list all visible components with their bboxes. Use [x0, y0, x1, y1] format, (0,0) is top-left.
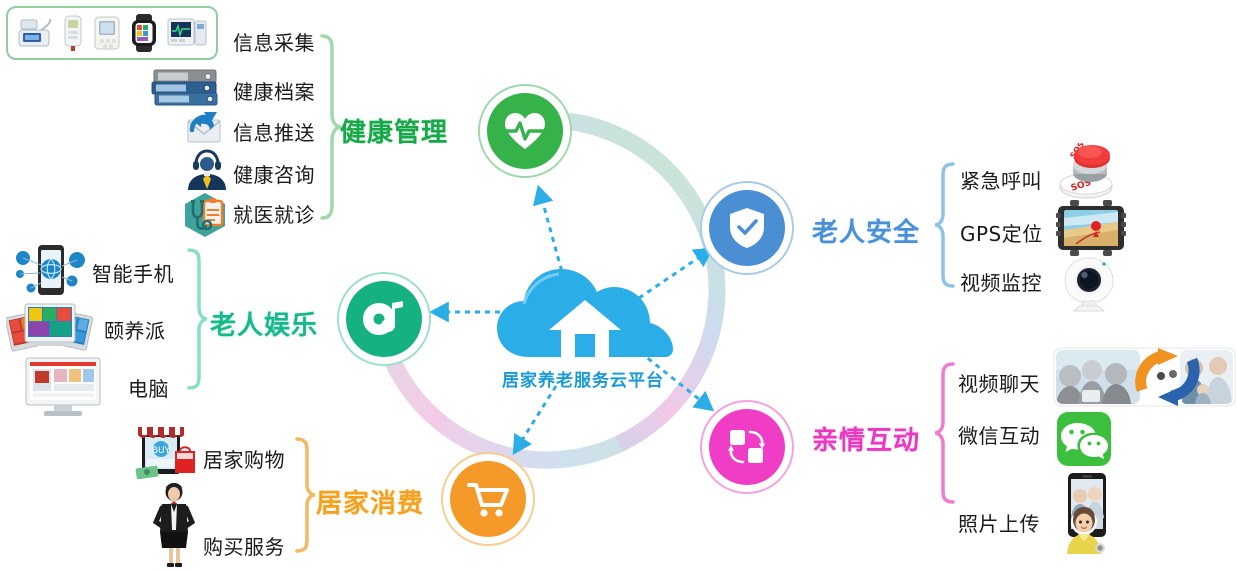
shopping-cart-icon	[466, 479, 510, 519]
svg-text:BUY: BUY	[152, 446, 171, 456]
node-elderly-entertainment[interactable]	[337, 272, 431, 366]
handheld-monitor-icon	[94, 16, 120, 50]
wechat-icon	[1056, 411, 1112, 467]
glucose-meter-icon	[62, 15, 84, 51]
health-item-label-3: 健康咨询	[233, 159, 315, 188]
tablets-icon	[6, 300, 94, 352]
photo-upload-phone-icon	[1056, 472, 1118, 554]
patient-monitor-icon	[167, 17, 207, 49]
stethoscope-clipboard-icon	[182, 192, 228, 238]
health-item-label-2: 信息推送	[233, 117, 315, 146]
headset-agent-icon	[184, 148, 228, 190]
health-item-label-0: 信息采集	[233, 27, 315, 56]
cloud-home-icon	[495, 262, 675, 362]
entertainment-item-label-0: 智能手机	[92, 258, 174, 287]
brace-safety	[934, 162, 958, 288]
diagram-canvas: 居家养老服务云平台	[0, 0, 1237, 571]
consumption-item-label-1: 购买服务	[203, 531, 285, 560]
online-store-icon: BUY	[134, 423, 198, 479]
node-elderly-safety[interactable]	[700, 181, 794, 275]
safety-item-label-2: 视频监控	[960, 267, 1042, 296]
consumption-item-label-0: 居家购物	[203, 444, 285, 473]
devices-box-icon	[6, 6, 218, 60]
gps-device-icon	[1056, 200, 1126, 256]
family-item-label-0: 视频聊天	[958, 368, 1040, 397]
family-item-label-1: 微信互动	[958, 420, 1040, 449]
category-label-family-interaction: 亲情互动	[812, 420, 920, 457]
brace-entertainment	[184, 248, 208, 390]
binders-icon	[150, 68, 222, 108]
smartphone-network-icon	[14, 243, 88, 297]
category-label-health-management: 健康管理	[340, 112, 448, 149]
sos-button-icon: SOS SOS	[1058, 143, 1118, 199]
node-family-interaction[interactable]	[700, 400, 794, 494]
service-person-icon	[152, 482, 196, 568]
safety-item-label-0: 紧急呼叫	[960, 165, 1042, 194]
health-item-label-1: 健康档案	[233, 76, 315, 105]
health-item-label-4: 就医就诊	[233, 199, 315, 228]
category-label-consumption: 居家消费	[316, 483, 424, 520]
shield-check-icon	[728, 207, 766, 249]
blood-pressure-monitor-icon	[17, 16, 53, 50]
heart-pulse-icon	[503, 111, 547, 151]
safety-item-label-1: GPS定位	[960, 218, 1043, 247]
video-chat-photo-icon	[1052, 346, 1237, 408]
smartwatch-icon	[130, 14, 158, 52]
security-camera-icon	[1060, 254, 1118, 312]
node-home-consumption[interactable]	[441, 452, 535, 546]
brace-consumption	[292, 437, 316, 553]
family-item-label-2: 照片上传	[958, 508, 1040, 537]
brace-family-interaction	[934, 362, 958, 504]
desktop-computer-icon	[24, 356, 102, 418]
push-arrow-icon	[184, 108, 224, 146]
arrow-to-consumption	[519, 386, 556, 445]
category-label-safety: 老人安全	[812, 212, 920, 249]
entertainment-item-label-1: 颐养派	[104, 315, 166, 344]
node-health-management[interactable]	[478, 84, 572, 178]
entertainment-item-label-2: 电脑	[128, 373, 169, 402]
category-label-entertainment: 老人娱乐	[210, 305, 318, 342]
share-squares-icon	[726, 426, 768, 468]
cloud-platform-label: 居家养老服务云平台	[502, 366, 664, 391]
music-disc-icon	[362, 299, 406, 339]
